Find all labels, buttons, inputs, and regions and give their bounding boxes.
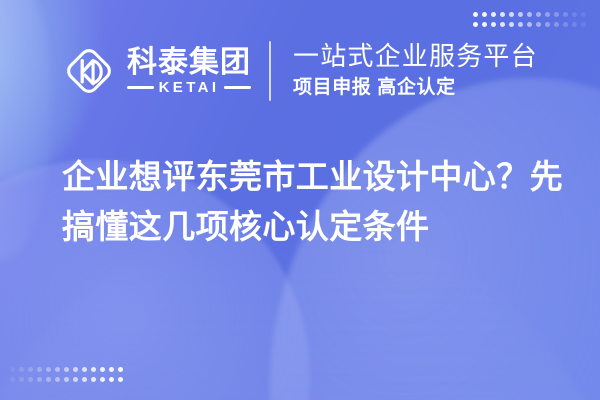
decorative-dot xyxy=(118,377,123,382)
banner-title-line-2: 搞懂这几项核心认定条件 xyxy=(62,202,562,252)
header-tagline-secondary: 项目申报 高企认定 xyxy=(293,76,538,101)
decorative-dot xyxy=(10,377,15,382)
decorative-dot xyxy=(563,12,568,17)
logo-wordmark: 科泰集团 KETAI xyxy=(127,47,251,95)
decorative-dot xyxy=(554,22,559,27)
dot-row xyxy=(473,12,586,17)
decorative-dot xyxy=(118,367,123,372)
decorative-dot xyxy=(500,12,505,17)
decorative-dot xyxy=(55,377,60,382)
decorative-dot xyxy=(482,22,487,27)
decorative-dot xyxy=(554,12,559,17)
decorative-dot xyxy=(46,367,51,372)
decorative-dot xyxy=(509,12,514,17)
decorative-dot xyxy=(37,367,42,372)
decorative-dot xyxy=(572,22,577,27)
decorative-dot xyxy=(46,377,51,382)
decorative-dot xyxy=(64,377,69,382)
decorative-dot xyxy=(545,22,550,27)
decorative-dot xyxy=(91,367,96,372)
decorative-dot xyxy=(536,22,541,27)
decorative-dot xyxy=(82,377,87,382)
decorative-dot xyxy=(572,12,577,17)
decorative-dot xyxy=(545,12,550,17)
logo-rule-right xyxy=(224,86,251,89)
ketai-logo[interactable]: 科泰集团 KETAI xyxy=(60,42,251,100)
decorative-dot xyxy=(73,367,78,372)
decorative-dot xyxy=(100,367,105,372)
dot-row xyxy=(473,22,586,27)
decorative-dot xyxy=(73,377,78,382)
decorative-dot xyxy=(10,367,15,372)
decorative-dot xyxy=(527,22,532,27)
dot-grid-top-right xyxy=(473,12,586,27)
decorative-dot xyxy=(28,377,33,382)
left-edge-light-band-shape xyxy=(0,0,52,260)
decorative-dot xyxy=(100,377,105,382)
decorative-dot xyxy=(55,367,60,372)
decorative-dot xyxy=(581,12,586,17)
decorative-dot xyxy=(109,367,114,372)
decorative-dot xyxy=(527,12,532,17)
dot-grid-bottom-left xyxy=(10,367,123,382)
header-tagline-group: 一站式企业服务平台 项目申报 高企认定 xyxy=(293,41,538,100)
decorative-dot xyxy=(563,22,568,27)
logo-rule-left xyxy=(127,86,154,89)
decorative-dot xyxy=(91,377,96,382)
decorative-dot xyxy=(518,12,523,17)
decorative-dot xyxy=(109,377,114,382)
decorative-dot xyxy=(581,22,586,27)
dot-row xyxy=(10,367,123,372)
decorative-dot xyxy=(19,377,24,382)
decorative-dot xyxy=(473,12,478,17)
header-tagline-primary: 一站式企业服务平台 xyxy=(293,41,538,72)
ketai-diamond-kd-monogram-icon xyxy=(60,42,118,100)
decorative-dot xyxy=(536,12,541,17)
decorative-dot xyxy=(482,12,487,17)
decorative-dot xyxy=(518,22,523,27)
banner-title-line-1: 企业想评东莞市工业设计中心？先 xyxy=(62,152,562,202)
decorative-dot xyxy=(500,22,505,27)
decorative-dot xyxy=(37,377,42,382)
promo-banner: 科泰集团 KETAI 一站式企业服务平台 项目申报 高企认定 企业想评东莞市工业… xyxy=(0,0,600,400)
decorative-dot xyxy=(491,22,496,27)
decorative-dot xyxy=(509,22,514,27)
decorative-dot xyxy=(491,12,496,17)
header-vertical-divider xyxy=(269,41,271,101)
decorative-dot xyxy=(473,22,478,27)
logo-company-name-latin: KETAI xyxy=(159,80,220,95)
decorative-dot xyxy=(19,367,24,372)
logo-company-name-cn: 科泰集团 xyxy=(127,47,251,78)
dot-row xyxy=(10,377,123,382)
decorative-dot xyxy=(82,367,87,372)
banner-title: 企业想评东莞市工业设计中心？先 搞懂这几项核心认定条件 xyxy=(62,152,562,252)
decorative-dot xyxy=(28,367,33,372)
logo-latin-row: KETAI xyxy=(127,80,251,95)
decorative-dot xyxy=(64,367,69,372)
banner-header: 科泰集团 KETAI 一站式企业服务平台 项目申报 高企认定 xyxy=(0,40,600,102)
